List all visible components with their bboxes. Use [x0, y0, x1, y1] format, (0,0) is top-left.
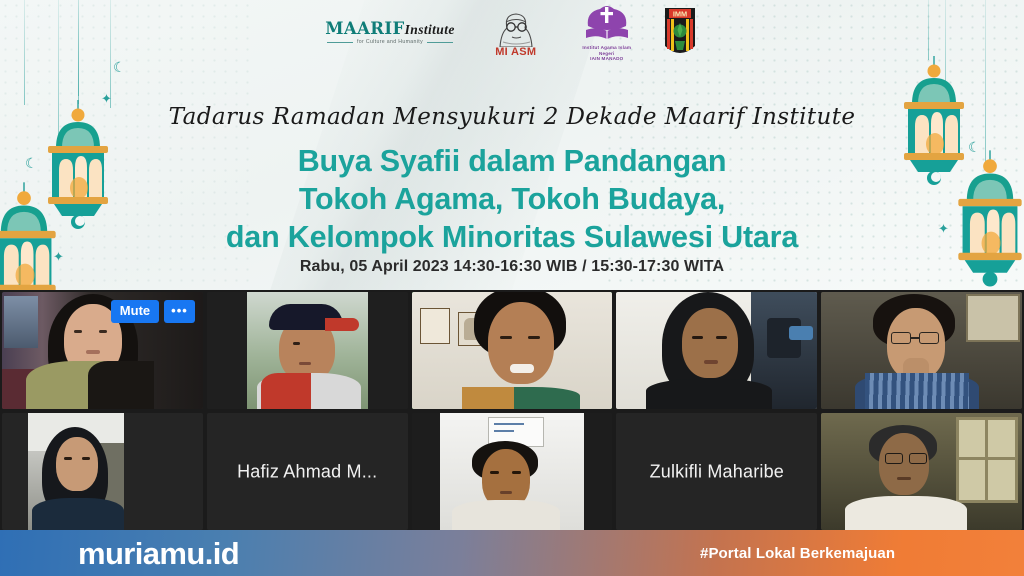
- event-datetime: Rabu, 05 April 2023 14:30-16:30 WIB / 15…: [0, 258, 1024, 276]
- iain-caption-line1: Institut Agama Islam Negeri: [577, 45, 637, 56]
- participant-tile[interactable]: Mute •••: [2, 292, 203, 409]
- participant-tile[interactable]: [821, 292, 1022, 409]
- cross-and-book-icon: [582, 4, 632, 44]
- video-feed: [616, 292, 817, 409]
- more-options-button[interactable]: •••: [164, 300, 195, 323]
- participant-name: Zulkifli Maharibe: [616, 461, 817, 482]
- footer-bar: muriamu.id #Portal Lokal Berkemajuan: [0, 530, 1024, 576]
- video-feed: [821, 413, 1022, 530]
- headline-line-1: Buya Syafii dalam Pandangan: [0, 142, 1024, 180]
- rule-left: [327, 42, 353, 43]
- event-headline: Buya Syafii dalam Pandangan Tokoh Agama,…: [0, 142, 1024, 256]
- video-grid: Mute •••: [0, 290, 1024, 530]
- headline-line-2: Tokoh Agama, Tokoh Budaya,: [0, 180, 1024, 218]
- maarif-logo-title-italic: Institute: [405, 22, 455, 37]
- mi-asm-caption: MI ASM: [481, 46, 551, 58]
- maarif-logo-title: MAARIF: [325, 19, 404, 38]
- participant-name: Hafiz Ahmad M...: [207, 461, 408, 482]
- maarif-logo-tagline: for Culture and Humanity: [357, 40, 423, 45]
- mute-button[interactable]: Mute: [111, 300, 159, 323]
- wall-picture: [420, 308, 450, 344]
- tile-controls[interactable]: Mute •••: [111, 300, 195, 323]
- video-feed: [821, 292, 1022, 409]
- iain-manado-logo: Institut Agama Islam Negeri IAIN MANADO: [577, 4, 637, 62]
- mi-asm-logo: MI ASM: [481, 9, 551, 58]
- participant-tile[interactable]: Zulkifli Maharibe: [616, 413, 817, 530]
- participant-tile[interactable]: [412, 413, 613, 530]
- sponsor-logo-row: MAARIFInstitute for Culture and Humanity…: [0, 4, 1024, 62]
- muriamu-brand-logo: muriamu.id: [78, 538, 239, 569]
- imm-shield-icon: IMM: [663, 6, 697, 60]
- video-feed: [207, 292, 408, 409]
- participant-tile[interactable]: [2, 413, 203, 530]
- video-feed: [412, 413, 613, 530]
- event-banner: ☾ ✦ ☾ ✦: [0, 0, 1024, 290]
- participant-tile[interactable]: [207, 292, 408, 409]
- footer-tagline: #Portal Lokal Berkemajuan: [700, 545, 895, 562]
- maarif-institute-logo: MAARIFInstitute for Culture and Humanity: [325, 21, 455, 45]
- rule-right: [427, 42, 453, 43]
- imm-logo: IMM: [663, 6, 699, 60]
- headline-line-3: dan Kelompok Minoritas Sulawesi Utara: [0, 218, 1024, 256]
- participant-tile-active-speaker[interactable]: [412, 292, 613, 409]
- video-feed: [412, 292, 613, 409]
- portrait-icon: [490, 9, 542, 47]
- event-kicker: Tadarus Ramadan Mensyukuri 2 Dekade Maar…: [0, 104, 1024, 130]
- video-feed: [2, 413, 203, 530]
- participant-tile[interactable]: Hafiz Ahmad M...: [207, 413, 408, 530]
- svg-text:IMM: IMM: [673, 10, 687, 19]
- iain-caption-line2: IAIN MANADO: [577, 56, 637, 62]
- participant-tile[interactable]: [616, 292, 817, 409]
- participant-tile[interactable]: [821, 413, 1022, 530]
